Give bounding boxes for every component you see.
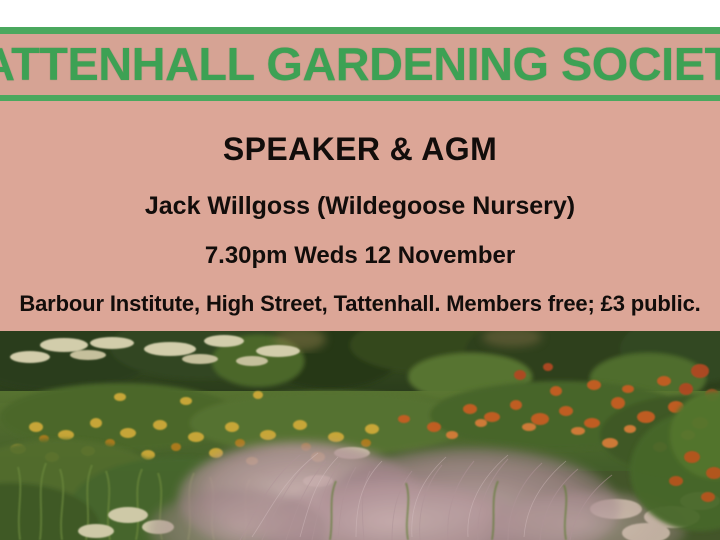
speaker-name: Jack Willgoss (Wildegoose Nursery) xyxy=(0,192,720,221)
garden-photograph xyxy=(0,331,720,540)
top-white-margin xyxy=(0,0,720,27)
event-headline: SPEAKER & AGM xyxy=(0,131,720,168)
poster-root: TATTENHALL GARDENING SOCIETY SPEAKER & A… xyxy=(0,0,720,540)
body-text-block: SPEAKER & AGM Jack Willgoss (Wildegoose … xyxy=(0,101,720,331)
event-datetime: 7.30pm Weds 12 November xyxy=(0,242,720,270)
society-title: TATTENHALL GARDENING SOCIETY xyxy=(0,27,720,101)
garden-photograph-graphic xyxy=(0,331,720,540)
event-venue-and-price: Barbour Institute, High Street, Tattenha… xyxy=(0,291,720,317)
